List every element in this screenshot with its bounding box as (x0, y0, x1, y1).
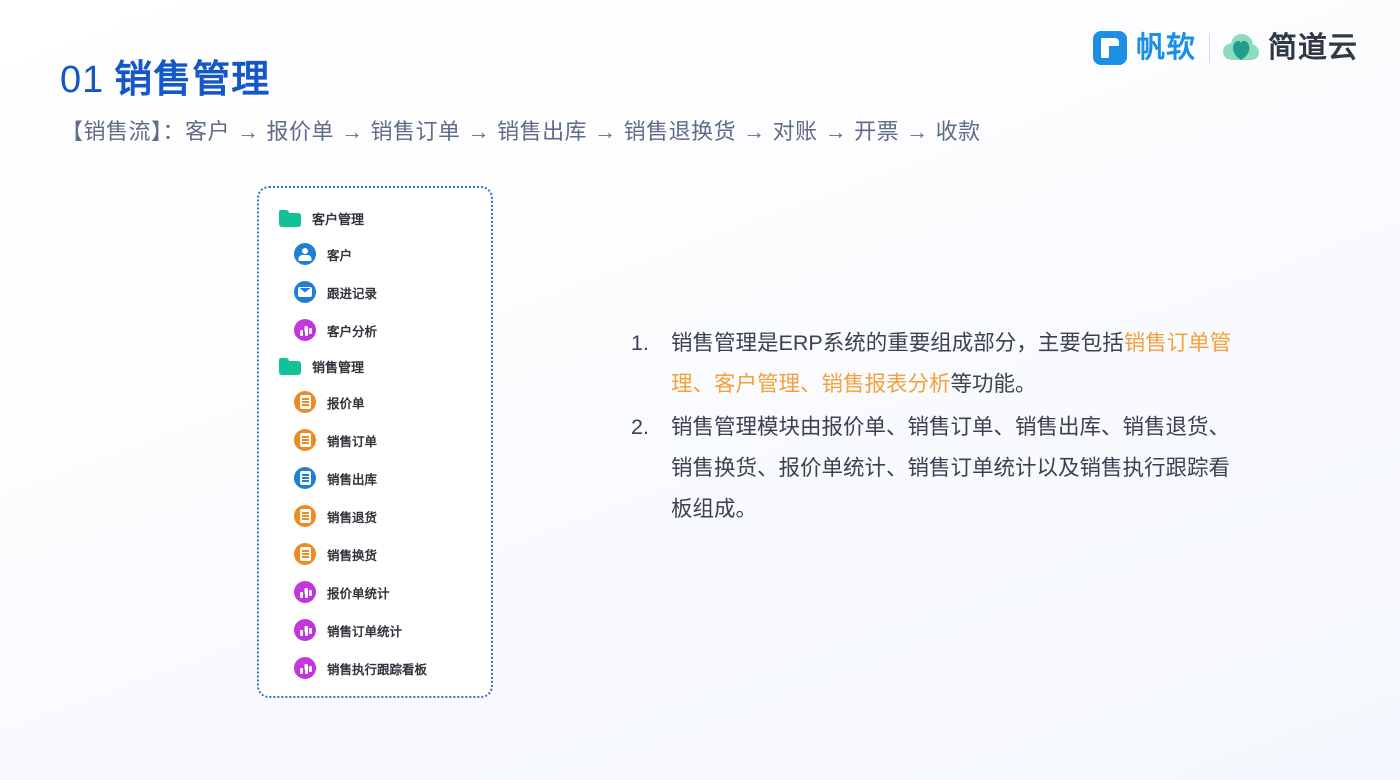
menu-item-label: 报价单 (327, 393, 365, 412)
bar-chart-icon (294, 319, 316, 341)
description-list: 1.销售管理是ERP系统的重要组成部分，主要包括销售订单管理、客户管理、销售报表… (631, 323, 1246, 532)
jiandaoyun-logo: 简道云 (1223, 33, 1358, 63)
page-title-text: 销售管理 (114, 59, 270, 101)
flow-step-4: 销售出库 (497, 119, 587, 144)
fanruan-mark-icon (1093, 31, 1127, 65)
document-icon (294, 391, 316, 413)
menu-item-客户分析[interactable]: 客户分析 (259, 311, 491, 349)
menu-item-label: 销售订单 (327, 431, 377, 450)
menu-item-销售出库[interactable]: 销售出库 (259, 459, 491, 497)
menu-item-销售订单统计[interactable]: 销售订单统计 (259, 611, 491, 649)
menu-item-label: 销售出库 (327, 469, 377, 488)
menu-group-客户管理[interactable]: 客户管理 (259, 201, 491, 235)
menu-item-label: 客户 (327, 245, 352, 264)
bar-chart-icon-glyph (294, 657, 316, 679)
menu-item-销售换货[interactable]: 销售换货 (259, 535, 491, 573)
menu-item-label: 销售订单统计 (327, 621, 402, 640)
flow-step-8: 收款 (936, 119, 981, 144)
menu-item-销售执行跟踪看板[interactable]: 销售执行跟踪看板 (259, 649, 491, 687)
menu-item-label: 销售换货 (327, 545, 377, 564)
document-icon (294, 467, 316, 489)
bar-chart-icon (294, 619, 316, 641)
flow-arrow-icon: → (468, 119, 491, 144)
menu-item-报价单统计[interactable]: 报价单统计 (259, 573, 491, 611)
menu-item-label: 销售退货 (327, 507, 377, 526)
menu-item-客户[interactable]: 客户 (259, 235, 491, 273)
list-marker: 1. (631, 323, 671, 405)
page-title-number: 01 (60, 59, 104, 101)
menu-group-label: 销售管理 (312, 357, 364, 376)
menu-group-label: 客户管理 (312, 209, 364, 228)
flow-step-5: 销售退换货 (624, 119, 737, 144)
flow-step-6: 对账 (773, 119, 818, 144)
flow-arrow-icon: → (594, 119, 617, 144)
cloud-leaf-svg (1223, 33, 1259, 63)
document-icon-glyph (294, 391, 316, 413)
menu-item-销售订单[interactable]: 销售订单 (259, 421, 491, 459)
plain-text: 等功能。 (951, 372, 1037, 396)
document-icon (294, 429, 316, 451)
flow-arrow-icon: → (341, 119, 364, 144)
envelope-icon-glyph (294, 281, 316, 303)
flow-steps: 客户→报价单→销售订单→销售出库→销售退换货→对账→开票→收款 (185, 119, 981, 144)
fanruan-logo-label: 帆软 (1136, 34, 1196, 63)
flow-step-2: 报价单 (267, 119, 335, 144)
page-title: 01销售管理 (60, 48, 270, 103)
bar-chart-icon (294, 581, 316, 603)
flow-step-7: 开票 (854, 119, 899, 144)
fanruan-logo: 帆软 (1093, 31, 1196, 65)
bar-chart-icon-glyph (294, 619, 316, 641)
plain-text: 销售管理模块由报价单、销售订单、销售出库、销售退货、销售换货、报价单统计、销售订… (671, 415, 1230, 521)
list-marker: 2. (631, 407, 671, 530)
description-text: 销售管理模块由报价单、销售订单、销售出库、销售退货、销售换货、报价单统计、销售订… (671, 407, 1246, 530)
document-icon-glyph (294, 543, 316, 565)
description-item-2: 2.销售管理模块由报价单、销售订单、销售出库、销售退货、销售换货、报价单统计、销… (631, 407, 1246, 530)
menu-item-label: 报价单统计 (327, 583, 390, 602)
menu-item-报价单[interactable]: 报价单 (259, 383, 491, 421)
menu-group-销售管理[interactable]: 销售管理 (259, 349, 491, 383)
flow-step-1: 客户 (185, 119, 230, 144)
flow-arrow-icon: → (237, 119, 260, 144)
document-icon (294, 505, 316, 527)
bar-chart-icon (294, 657, 316, 679)
menu-root: 客户管理客户跟进记录客户分析销售管理报价单销售订单销售出库销售退货销售换货报价单… (259, 201, 491, 687)
menu-item-label: 跟进记录 (327, 283, 377, 302)
module-menu-panel: 客户管理客户跟进记录客户分析销售管理报价单销售订单销售出库销售退货销售换货报价单… (257, 186, 493, 698)
person-icon-glyph (294, 243, 316, 265)
document-icon (294, 543, 316, 565)
flow-arrow-icon: → (825, 119, 848, 144)
envelope-icon (294, 281, 316, 303)
folder-icon (279, 358, 301, 375)
menu-item-销售退货[interactable]: 销售退货 (259, 497, 491, 535)
jiandaoyun-cloud-leaf-icon (1223, 33, 1259, 63)
description-item-1: 1.销售管理是ERP系统的重要组成部分，主要包括销售订单管理、客户管理、销售报表… (631, 323, 1246, 405)
document-icon-glyph (294, 505, 316, 527)
menu-item-label: 销售执行跟踪看板 (327, 659, 427, 678)
bar-chart-icon-glyph (294, 319, 316, 341)
sales-flow-line: 【销售流】：客户→报价单→销售订单→销售出库→销售退换货→对账→开票→收款 (61, 114, 981, 146)
brand-logo-bar: 帆软 简道云 (1093, 24, 1358, 72)
flow-arrow-icon: → (906, 119, 929, 144)
document-icon-glyph (294, 429, 316, 451)
person-icon (294, 243, 316, 265)
folder-icon (279, 210, 301, 227)
flow-prefix: 【销售流】： (61, 119, 185, 144)
document-icon-glyph (294, 467, 316, 489)
bar-chart-icon-glyph (294, 581, 316, 603)
menu-item-label: 客户分析 (327, 321, 377, 340)
plain-text: 销售管理是ERP系统的重要组成部分，主要包括 (671, 331, 1124, 355)
logo-divider (1209, 33, 1210, 63)
flow-arrow-icon: → (743, 119, 766, 144)
flow-step-3: 销售订单 (371, 119, 461, 144)
jiandaoyun-logo-label: 简道云 (1268, 34, 1358, 63)
description-text: 销售管理是ERP系统的重要组成部分，主要包括销售订单管理、客户管理、销售报表分析… (671, 323, 1246, 405)
menu-item-跟进记录[interactable]: 跟进记录 (259, 273, 491, 311)
